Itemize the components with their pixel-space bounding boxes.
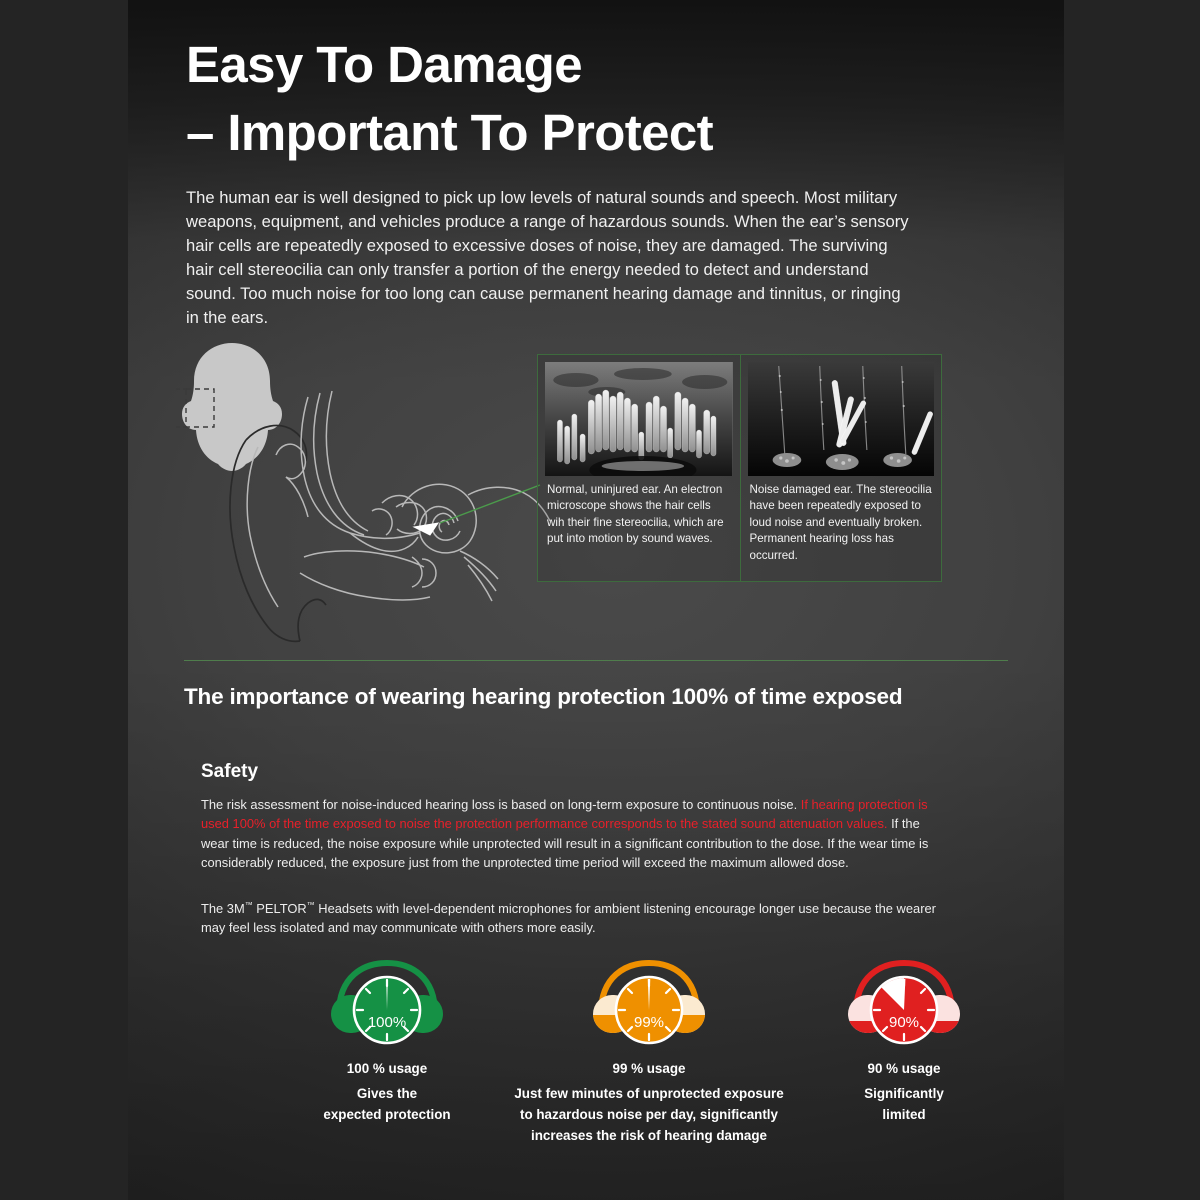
safety-p1-lead: The risk assessment for noise-induced he… <box>201 797 801 812</box>
damaged-ear-caption: Noise damaged ear. The stereocilia have … <box>748 476 935 564</box>
safety-title: Safety <box>201 761 258 783</box>
gauge-usage-label: 90 % usage <box>769 1061 1039 1076</box>
peltor-pre: The 3M <box>201 901 245 916</box>
trademark-icon-1: ™ <box>245 901 253 910</box>
usage-gauges-row: 100% 100 % usage Gives the expected prot… <box>184 955 1014 1185</box>
damaged-ear-micrograph-svg <box>748 362 935 476</box>
gauge-100-svg: 100% <box>317 955 457 1047</box>
gauge-description: Significantly limited <box>804 1084 1004 1126</box>
gauge-usage-label: 99 % usage <box>514 1061 784 1076</box>
normal-ear-caption: Normal, uninjured ear. An electron micro… <box>545 476 733 548</box>
microscope-panel-right: Noise damaged ear. The stereocilia have … <box>740 355 942 581</box>
gauge-99-svg: 99% <box>579 955 719 1047</box>
headset-gauge-100-icon: 100% <box>252 955 522 1047</box>
gauge-usage-label: 100 % usage <box>252 1061 522 1076</box>
safety-paragraph-2: The 3M™ PELTOR™ Headsets with level-depe… <box>201 899 936 938</box>
damaged-ear-stereocilia-micrograph <box>748 362 935 476</box>
section-heading: The importance of wearing hearing protec… <box>184 684 1014 710</box>
ear-anatomy-svg <box>168 335 588 655</box>
gauge-column-90: 90% 90 % usage Significantly limited <box>769 955 1039 1126</box>
gauge-column-100: 100% 100 % usage Gives the expected prot… <box>252 955 522 1126</box>
gauge-column-99: 99% 99 % usage Just few minutes of unpro… <box>514 955 784 1146</box>
microscope-panel: Normal, uninjured ear. An electron micro… <box>537 354 942 582</box>
trademark-icon-2: ™ <box>307 901 315 910</box>
page-canvas: Easy To Damage – Important To Protect Th… <box>128 0 1064 1200</box>
normal-ear-stereocilia-micrograph <box>545 362 733 476</box>
gauge-90-svg: 90% <box>834 955 974 1047</box>
infographic-page: Easy To Damage – Important To Protect Th… <box>0 0 1200 1200</box>
gauge-percent-label: 90% <box>889 1014 919 1031</box>
section-divider <box>184 660 1008 661</box>
normal-ear-micrograph-svg <box>545 362 733 476</box>
gauge-description: Gives the expected protection <box>287 1084 487 1126</box>
gauge-percent-label: 99% <box>634 1014 664 1031</box>
microscope-panel-left: Normal, uninjured ear. An electron micro… <box>538 355 740 581</box>
peltor-mid: PELTOR <box>253 901 307 916</box>
gauge-percent-label: 100% <box>368 1014 406 1031</box>
safety-paragraph-1: The risk assessment for noise-induced he… <box>201 795 936 872</box>
page-title: Easy To Damage – Important To Protect <box>186 31 986 168</box>
callout-leader-line <box>440 485 540 523</box>
headset-gauge-99-icon: 99% <box>514 955 784 1047</box>
intro-paragraph-block: The human ear is well designed to pick u… <box>186 186 916 330</box>
ear-anatomy-illustration <box>168 335 588 655</box>
headset-gauge-90-icon: 90% <box>769 955 1039 1047</box>
intro-paragraph: The human ear is well designed to pick u… <box>186 186 916 330</box>
head-silhouette-icon <box>182 343 282 471</box>
gauge-description: Just few minutes of unprotected exposure… <box>514 1084 784 1146</box>
